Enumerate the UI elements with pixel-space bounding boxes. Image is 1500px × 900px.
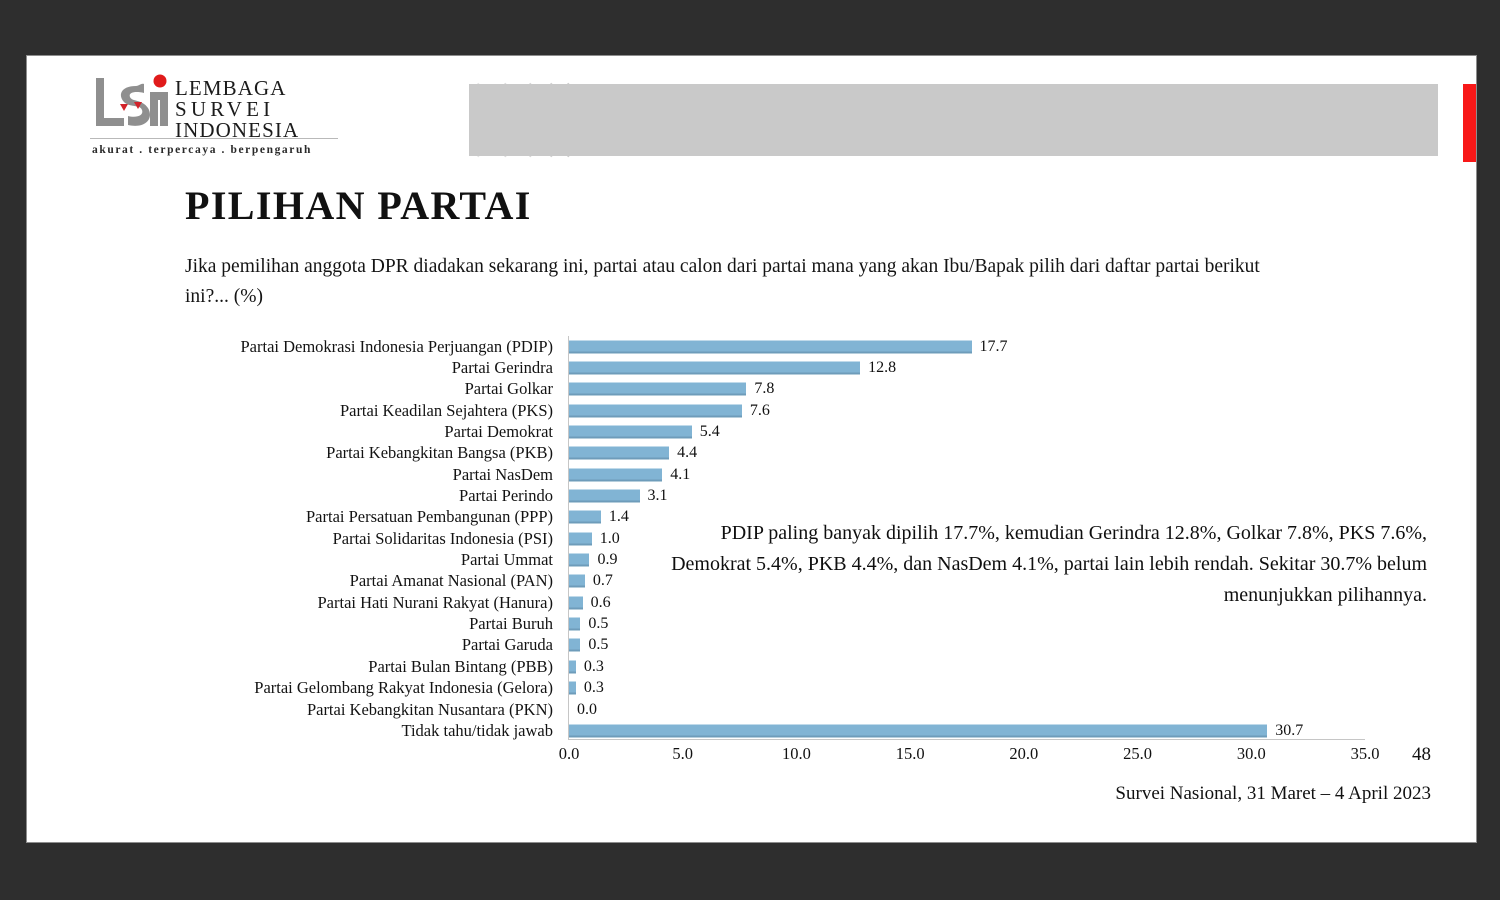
lsi-tagline: akurat . terpercaya . berpengaruh [92, 144, 312, 156]
chart-bar [569, 682, 576, 695]
logo-line-2: SURVEI [175, 99, 299, 120]
x-axis-tick: 5.0 [672, 744, 693, 764]
bar-category-label: Partai Hati Nurani Rakyat (Hanura) [185, 594, 553, 612]
lsi-wordmark: LEMBAGA SURVEI INDONESIA [175, 78, 299, 141]
chart-bar-row: Partai Gerindra12.8 [185, 357, 1365, 378]
logo-divider [90, 138, 338, 139]
chart-bar-row: Partai Bulan Bintang (PBB)0.3 [185, 656, 1365, 677]
bar-track: 4.1 [569, 464, 1365, 485]
slide-canvas: LEMBAGA SURVEI INDONESIA akurat . terper… [27, 56, 1476, 842]
page-number: 48 [1412, 744, 1431, 766]
chart-bar [569, 660, 576, 673]
bar-track: 0.3 [569, 656, 1365, 677]
bar-category-label: Partai Keadilan Sejahtera (PKS) [185, 402, 553, 420]
chart-bar-row: Partai Buruh0.5 [185, 613, 1365, 634]
chart-bar [569, 340, 972, 353]
page-title: PILIHAN PARTAI [185, 182, 532, 229]
chart-bar [569, 490, 640, 503]
chart-bar-row: Partai Demokrasi Indonesia Perjuangan (P… [185, 336, 1365, 357]
bar-track: 17.7 [569, 336, 1365, 357]
bar-value-label: 17.7 [980, 338, 1008, 356]
chart-x-tick-labels: 0.05.010.015.020.025.030.035.0 [569, 744, 1365, 770]
bar-track: 3.1 [569, 485, 1365, 506]
bar-category-label: Partai Amanat Nasional (PAN) [185, 572, 553, 590]
bar-value-label: 0.3 [584, 679, 604, 697]
chart-bar [569, 554, 589, 567]
bar-value-label: 1.0 [600, 530, 620, 548]
chart-bar-row: Partai Garuda0.5 [185, 635, 1365, 656]
bar-value-label: 1.4 [609, 508, 629, 526]
chart-bar [569, 447, 669, 460]
chart-bar-row: Partai Kebangkitan Bangsa (PKB)4.4 [185, 443, 1365, 464]
chart-bar [569, 362, 860, 375]
header-swoosh-decoration [347, 84, 1438, 156]
chart-value-axis [568, 336, 569, 740]
bar-category-label: Tidak tahu/tidak jawab [185, 722, 553, 740]
bar-track: 7.8 [569, 379, 1365, 400]
chart-bar [569, 404, 742, 417]
bar-category-label: Partai NasDem [185, 466, 553, 484]
chart-category-axis [569, 739, 1365, 740]
bar-track: 12.8 [569, 357, 1365, 378]
bar-track: 4.4 [569, 443, 1365, 464]
bar-category-label: Partai Golkar [185, 380, 553, 398]
bar-category-label: Partai Kebangkitan Nusantara (PKN) [185, 701, 553, 719]
bar-category-label: Partai Garuda [185, 636, 553, 654]
bar-category-label: Partai Perindo [185, 487, 553, 505]
logo-line-1: LEMBAGA [175, 78, 299, 99]
bar-value-label: 5.4 [700, 423, 720, 441]
chart-bar [569, 575, 585, 588]
bar-category-label: Partai Solidaritas Indonesia (PSI) [185, 530, 553, 548]
x-axis-tick: 10.0 [782, 744, 811, 764]
bar-value-label: 30.7 [1275, 722, 1303, 740]
chart-bar [569, 596, 583, 609]
bar-track: 0.5 [569, 635, 1365, 656]
bar-value-label: 4.4 [677, 444, 697, 462]
lsi-monogram-icon [90, 74, 170, 136]
chart-annotation: PDIP paling banyak dipilih 17.7%, kemudi… [637, 518, 1427, 611]
bar-category-label: Partai Ummat [185, 551, 553, 569]
chart-bar-row: Partai Golkar7.8 [185, 379, 1365, 400]
x-axis-tick: 30.0 [1237, 744, 1266, 764]
bar-category-label: Partai Buruh [185, 615, 553, 633]
bar-value-label: 0.3 [584, 658, 604, 676]
chart-bar-row: Partai Demokrat5.4 [185, 421, 1365, 442]
bar-value-label: 0.0 [577, 701, 597, 719]
chart-bar-row: Partai Perindo3.1 [185, 485, 1365, 506]
bar-category-label: Partai Persatuan Pembangunan (PPP) [185, 508, 553, 526]
bar-track: 7.6 [569, 400, 1365, 421]
bar-category-label: Partai Demokrat [185, 423, 553, 441]
chart-bar [569, 511, 601, 524]
chart-bar-row: Partai Keadilan Sejahtera (PKS)7.6 [185, 400, 1365, 421]
chart-bar [569, 426, 692, 439]
bar-value-label: 7.8 [754, 380, 774, 398]
x-axis-tick: 20.0 [1009, 744, 1038, 764]
chart-bar [569, 724, 1267, 737]
chart-bar [569, 383, 746, 396]
bar-value-label: 0.9 [597, 551, 617, 569]
x-axis-tick: 25.0 [1123, 744, 1152, 764]
bar-value-label: 0.5 [588, 615, 608, 633]
lsi-logo: LEMBAGA SURVEI INDONESIA akurat . terper… [90, 74, 340, 166]
bar-value-label: 3.1 [648, 487, 668, 505]
bar-track: 0.3 [569, 678, 1365, 699]
bar-value-label: 7.6 [750, 402, 770, 420]
chart-bar-row: Partai NasDem4.1 [185, 464, 1365, 485]
chart-bar [569, 639, 580, 652]
header-gray-band [469, 84, 1438, 156]
source-note: Survei Nasional, 31 Maret – 4 April 2023 [1115, 783, 1431, 805]
bar-category-label: Partai Bulan Bintang (PBB) [185, 658, 553, 676]
x-axis-tick: 15.0 [896, 744, 925, 764]
bar-track: 5.4 [569, 421, 1365, 442]
bar-category-label: Partai Demokrasi Indonesia Perjuangan (P… [185, 338, 553, 356]
bar-category-label: Partai Gelombang Rakyat Indonesia (Gelor… [185, 679, 553, 697]
bar-value-label: 0.5 [588, 636, 608, 654]
chart-bar-row: Partai Kebangkitan Nusantara (PKN)0.0 [185, 699, 1365, 720]
header-red-accent [1463, 84, 1476, 162]
x-axis-tick: 35.0 [1351, 744, 1380, 764]
bar-category-label: Partai Gerindra [185, 359, 553, 377]
bar-track: 0.0 [569, 699, 1365, 720]
chart-bar-row: Partai Gelombang Rakyat Indonesia (Gelor… [185, 678, 1365, 699]
chart-bar [569, 532, 592, 545]
survey-question: Jika pemilihan anggota DPR diadakan seka… [185, 252, 1275, 312]
chart-bar [569, 618, 580, 631]
bar-value-label: 0.6 [591, 594, 611, 612]
bar-category-label: Partai Kebangkitan Bangsa (PKB) [185, 444, 553, 462]
slide-header: LEMBAGA SURVEI INDONESIA akurat . terper… [27, 56, 1476, 166]
bar-value-label: 12.8 [868, 359, 896, 377]
chart-bar [569, 468, 662, 481]
bar-track: 0.5 [569, 613, 1365, 634]
bar-value-label: 4.1 [670, 466, 690, 484]
x-axis-tick: 0.0 [559, 744, 580, 764]
bar-value-label: 0.7 [593, 572, 613, 590]
